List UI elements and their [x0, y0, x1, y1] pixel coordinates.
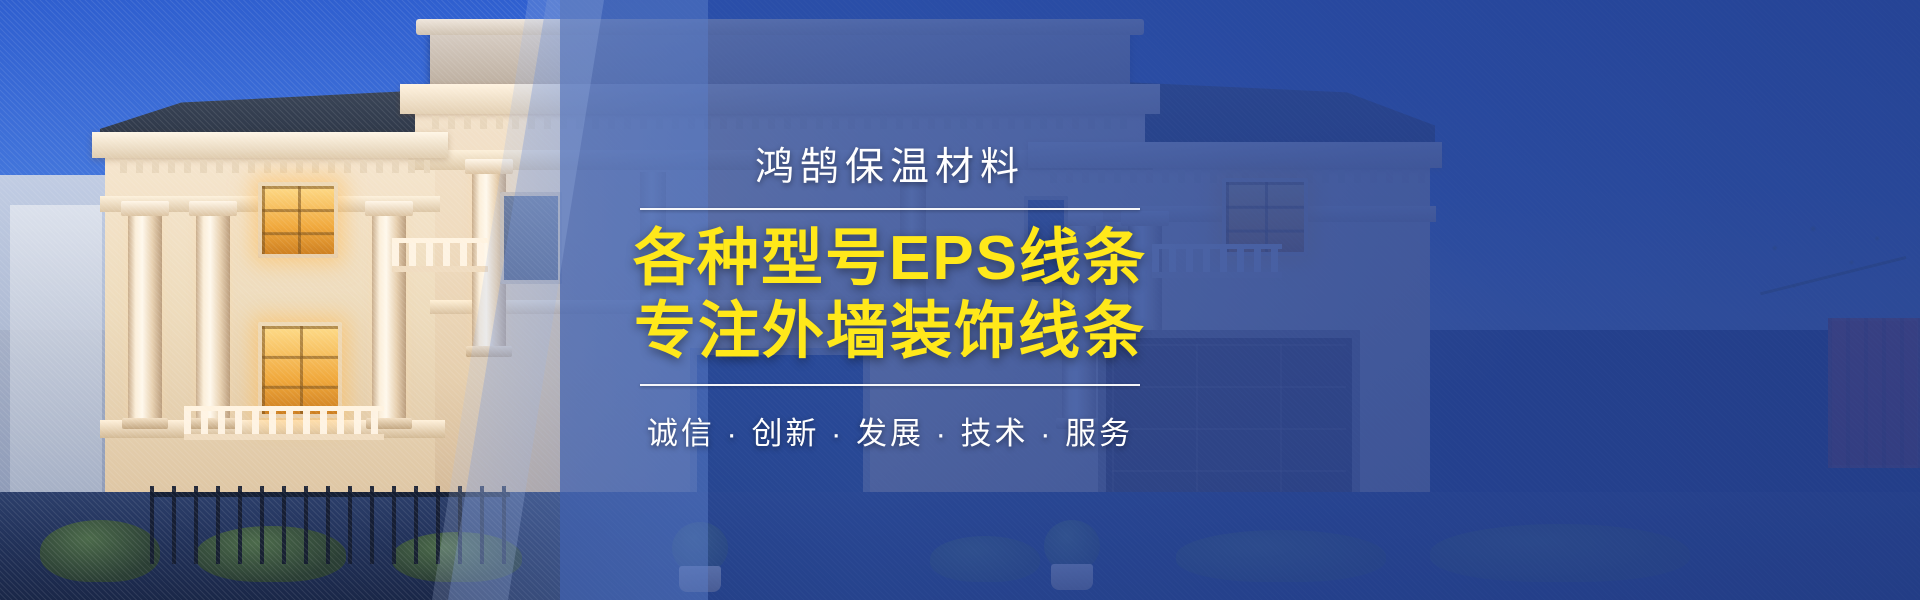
lit-window [258, 182, 338, 258]
promo-banner: 鸿鹄保温材料 各种型号EPS线条 专注外墙装饰线条 诚信 · 创新 · 发展 ·… [0, 0, 1920, 600]
shrub [40, 520, 160, 582]
divider-top [640, 208, 1140, 210]
company-subtitle: 鸿鹄保温材料 [755, 147, 1025, 190]
banner-text-block: 鸿鹄保温材料 各种型号EPS线条 专注外墙装饰线条 诚信 · 创新 · 发展 ·… [560, 0, 1220, 600]
column [196, 214, 230, 420]
dentil-row-left [120, 160, 430, 173]
headline-line-2: 专注外墙装饰线条 [634, 297, 1146, 366]
left-wing-cornice [92, 132, 448, 158]
headline-line-1: 各种型号EPS线条 [633, 224, 1147, 293]
window-mullions [262, 326, 338, 414]
balustrade [392, 238, 488, 272]
column [128, 214, 162, 420]
divider-bottom [640, 384, 1140, 386]
slogan-tagline: 诚信 · 创新 · 发展 · 技术 · 服务 [647, 408, 1133, 453]
window-mullions [262, 186, 334, 254]
balustrade [184, 406, 384, 440]
lit-window [258, 322, 342, 418]
